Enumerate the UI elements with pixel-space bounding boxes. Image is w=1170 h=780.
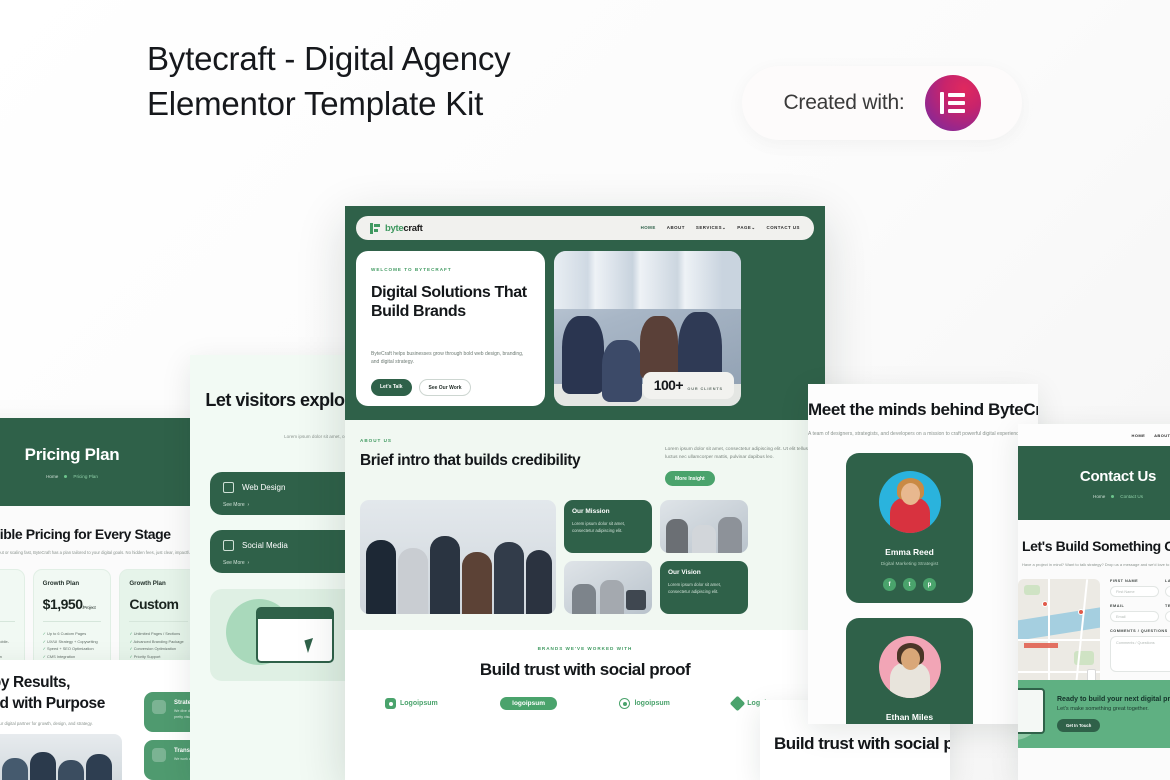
client-logo-row: Logoipsum logoipsum logoipsum Logoipsum [357, 697, 813, 710]
plan-feature: Speed + SEO Optimization [43, 645, 102, 653]
hero-eyebrow: WELCOME TO BYTECRAFT [371, 267, 530, 272]
mission-card: Our Mission Lorem ipsum dolor sit amet, … [564, 500, 652, 553]
cta-illustration [1018, 680, 1057, 748]
breadcrumb-home[interactable]: Home [1093, 494, 1105, 499]
about-title: Brief intro that builds credibility [360, 451, 580, 470]
hero-copy-card: WELCOME TO BYTECRAFT Digital Solutions T… [356, 251, 545, 406]
plan-feature: Up to 6 Custom Pages [43, 630, 102, 638]
contact-page-title: Contact Us [1080, 468, 1156, 485]
nav-links: HOME ABOUT SERVICES⌄ PAGE⌄ CONTACT US [641, 225, 800, 231]
plan-feature: One Page Website [0, 630, 15, 638]
hero-team-photo: 100+ OUR CLIENTS [554, 251, 741, 406]
nav-item-home[interactable]: HOME [641, 225, 656, 231]
mission-text: Lorem ipsum dolor sit amet, consectetur … [572, 521, 644, 534]
chevron-down-icon: ⌄ [722, 225, 726, 230]
hero-row: WELCOME TO BYTECRAFT Digital Solutions T… [356, 251, 814, 406]
pricing-page-title: Pricing Plan [25, 445, 120, 465]
clients-stat-badge: 100+ OUR CLIENTS [643, 372, 734, 399]
proof-eyebrow: BRANDS WE'VE WORKED WITH [357, 646, 813, 651]
vision-text: Lorem ipsum dolor sit amet, consectetur … [668, 582, 740, 595]
tel-input[interactable]: Tel [1165, 611, 1170, 622]
contact-cta-banner: Ready to build your next digital product… [1018, 680, 1170, 748]
service-title: Web Design [242, 483, 285, 492]
member-name: Ethan Miles [846, 712, 973, 722]
pricing-heading: Flexible Pricing for Every Stage [0, 526, 198, 542]
about-photo-1 [660, 500, 748, 553]
pinterest-icon[interactable]: p [923, 578, 936, 591]
client-logo-label: logoipsum [634, 700, 669, 707]
contact-navbar: HOME ABOUT SERVICES ⌄ [1018, 424, 1170, 446]
get-in-touch-button[interactable]: Get In Touch [1057, 719, 1100, 732]
avatar [879, 471, 941, 533]
brand-name-bold: craft [403, 223, 422, 234]
why-heading-line1: Driven by Results, [0, 674, 70, 691]
logoipsum-mark-icon [385, 698, 396, 709]
why-heading-line2: Designed with Purpose [0, 695, 105, 712]
social-links: f t p [846, 578, 973, 591]
team-group-photo [0, 734, 122, 780]
plan-price: Custom [129, 596, 188, 612]
client-logo: logoipsum [500, 697, 557, 710]
member-role: Digital Marketing Strategist [846, 562, 973, 567]
breadcrumb: Home Contact Us [1093, 494, 1143, 499]
comments-textarea[interactable]: Comments / Questions [1110, 636, 1170, 672]
client-logo: logoipsum [619, 697, 669, 710]
cta-subtitle: Let's make something great together. [1057, 706, 1170, 712]
promo-headline: Bytecraft - Digital Agency Elementor Tem… [147, 36, 567, 126]
mission-title: Our Mission [572, 508, 644, 515]
client-logo: Logoipsum [385, 697, 438, 710]
last-name-input[interactable]: Last Name [1165, 586, 1170, 597]
contact-subtext: Have a project in mind? Want to talk str… [1018, 562, 1170, 567]
logoipsum-circle-icon [619, 698, 630, 709]
elementor-logo-icon [925, 75, 981, 131]
pricing-page-hero: Pricing Plan Home Pricing Plan [0, 418, 210, 506]
clients-stat-number: 100+ [654, 377, 683, 393]
email-label: EMAIL [1110, 604, 1159, 608]
twitter-icon[interactable]: t [903, 578, 916, 591]
breadcrumb-current: Contact Us [1120, 494, 1143, 499]
nav-item-page[interactable]: PAGE⌄ [737, 225, 755, 231]
tel-label: TEL [1165, 604, 1170, 608]
breadcrumb: Home Pricing Plan [46, 474, 98, 479]
first-name-input[interactable]: First Name [1110, 586, 1159, 597]
created-with-label: Created with: [783, 91, 904, 115]
comments-label: COMMENTS / QUESTIONS [1110, 629, 1170, 633]
plan-feature: UX/UI Strategy + Copywriting [43, 638, 102, 646]
team-member-card[interactable]: Emma Reed Digital Marketing Strategist f… [846, 453, 973, 603]
home-hero-section: bytecraft HOME ABOUT SERVICES⌄ PAGE⌄ CON… [345, 206, 825, 420]
vision-card: Our Vision Lorem ipsum dolor sit amet, c… [660, 561, 748, 614]
more-insight-button[interactable]: More Insight [665, 471, 715, 486]
plan-feature: CMS Integration [43, 653, 102, 661]
plan-feature: Unlimited Pages / Sections [129, 630, 188, 638]
breadcrumb-separator-icon [1111, 495, 1114, 498]
team-card-list: Emma Reed Digital Marketing Strategist f… [808, 453, 1038, 724]
email-input[interactable]: Email [1110, 611, 1159, 622]
vision-title: Our Vision [668, 569, 740, 576]
created-with-badge: Created with: [742, 66, 1022, 140]
mockup-contact-page: HOME ABOUT SERVICES ⌄ Contact Us Home Co… [1018, 424, 1170, 780]
avatar [879, 636, 941, 698]
contact-page-hero: Contact Us Home Contact Us [1018, 446, 1170, 520]
facebook-icon[interactable]: f [883, 578, 896, 591]
site-logo[interactable]: bytecraft [370, 223, 422, 234]
clients-stat-label: OUR CLIENTS [687, 387, 723, 391]
plan-price: $950/Project [0, 596, 15, 612]
plan-feature: Conversion Optimization [129, 645, 188, 653]
logoipsum-pill-label: logoipsum [500, 697, 557, 710]
about-paragraph: Lorem ipsum dolor sit amet, consectetur … [665, 446, 810, 462]
plan-name: Growth Plan [43, 580, 102, 587]
hero-title: Digital Solutions That Build Brands [371, 283, 530, 321]
nav-item-about[interactable]: ABOUT [667, 225, 685, 231]
about-eyebrow: ABOUT US [360, 438, 580, 443]
bytecraft-logo-icon [370, 223, 381, 234]
breadcrumb-current: Pricing Plan [73, 474, 98, 479]
logoipsum-diamond-icon [730, 696, 746, 712]
hero-buttons: Let's Talk See Our Work [371, 379, 530, 396]
about-group-photo [360, 500, 556, 614]
team-member-card[interactable]: Ethan Miles Project Manager f t p [846, 618, 973, 724]
plan-feature: Advanced Branding Package [129, 638, 188, 646]
plan-name: Growth Plan [129, 580, 188, 587]
team-subtext: A team of designers, strategists, and de… [808, 420, 1038, 437]
brand-name-light: byte [385, 223, 403, 234]
home-social-proof-section: BRANDS WE'VE WORKED WITH Build trust wit… [345, 630, 825, 722]
nav-item-services[interactable]: SERVICES⌄ [696, 225, 726, 231]
nav-item-contact-us[interactable]: CONTACT US [767, 225, 800, 231]
cta-title: Ready to build your next digital product… [1057, 696, 1170, 703]
plan-feature: Responsive Design (Mobile-Friendly) [0, 638, 15, 653]
collaboration-icon [152, 748, 166, 762]
contact-heading: Let's Build Something Great Together [1018, 538, 1170, 554]
last-name-label: LAST NAME [1165, 579, 1170, 583]
first-name-label: FIRST NAME [1110, 579, 1159, 583]
breadcrumb-home[interactable]: Home [46, 474, 58, 479]
nav-item-home[interactable]: HOME [1132, 433, 1146, 438]
pricing-subtext: Whether you're just starting out or scal… [0, 550, 198, 555]
proof-title: Build trust with social proof [357, 660, 813, 680]
promo-canvas: Bytecraft - Digital Agency Elementor Tem… [0, 0, 1170, 780]
about-photo-2 [564, 561, 652, 614]
plan-feature: Basic SEO Optimization [0, 653, 15, 661]
mockup-home-page: bytecraft HOME ABOUT SERVICES⌄ PAGE⌄ CON… [345, 206, 825, 780]
service-title: Social Media [242, 541, 288, 550]
site-navbar: bytecraft HOME ABOUT SERVICES⌄ PAGE⌄ CON… [356, 216, 814, 240]
nav-item-about[interactable]: ABOUT [1154, 433, 1170, 438]
strategy-icon [152, 700, 166, 714]
mockup-team-page: Meet the minds behind ByteCraft A team o… [808, 384, 1038, 724]
breadcrumb-separator-icon [64, 475, 67, 478]
plan-feature: Priority Support [129, 653, 188, 661]
see-our-work-button[interactable]: See Our Work [419, 379, 472, 396]
home-about-section: ABOUT US Brief intro that builds credibi… [345, 420, 825, 630]
plan-price: $1,950/Project [43, 596, 102, 612]
plan-name: Starter Plan [0, 580, 15, 587]
client-logo-label: Logoipsum [400, 700, 438, 707]
share-icon [223, 540, 234, 551]
contact-body: Let's Build Something Great Together Hav… [1018, 520, 1170, 697]
team-heading: Meet the minds behind ByteCraft [808, 384, 1038, 420]
monitor-icon [223, 482, 234, 493]
member-name: Emma Reed [846, 547, 973, 557]
lets-talk-button[interactable]: Let's Talk [371, 379, 412, 396]
hero-paragraph: ByteCraft helps businesses grow through … [371, 350, 530, 366]
chevron-down-icon: ⌄ [751, 225, 755, 230]
